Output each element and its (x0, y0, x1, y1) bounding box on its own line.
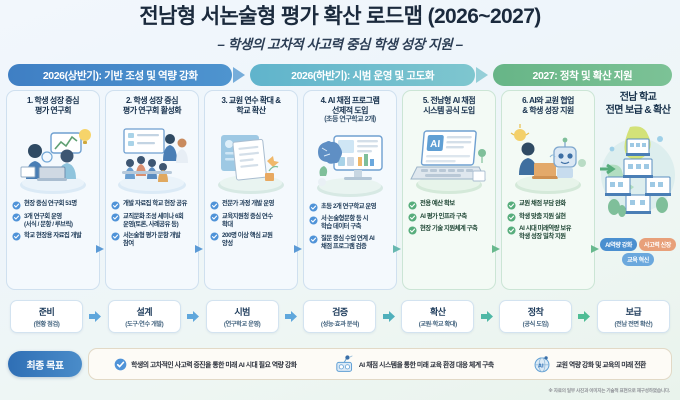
bullet-text: AI 평가 인프라 구축 (420, 213, 467, 221)
roadmap-card-1-title: 1. 학생 성장 중심평가 연구회 (27, 96, 79, 122)
phase-bar-1-label: 2026(상반기): 기반 조성 및 역량 강화 (43, 68, 198, 83)
check-shield-icon (408, 213, 417, 222)
infographic-page: 전남형 서논술형 평가 확산 로드맵 (2026~2027) – 학생의 고차적… (0, 0, 680, 400)
final-goal-text-1: 학생의 고차적인 사고력 증진을 통한 미래 AI 시대 필요 역량 강화 (131, 359, 296, 369)
timeline-arrow-icon (382, 311, 396, 322)
card-arrow-icon (96, 241, 106, 259)
teacher-robot-icon (504, 123, 592, 197)
timeline-step-3-sub: (연구학교 운영) (224, 319, 260, 328)
final-goal-item-3: AI 교원 역량 강화 및 교육의 미래 전환 (532, 355, 646, 373)
bullet-text: 3개 연구회 운영(서식 / 문항 / 루브릭) (24, 213, 73, 229)
header: 전남형 서논술형 평가 확산 로드맵 (2026~2027) – 학생의 고차적… (0, 0, 680, 53)
timeline-arrow-icon (577, 311, 591, 322)
timeline-step-7-sub: (전남 전면 확산) (615, 319, 653, 328)
timeline-step-4-sub: (성능·효과 분석) (321, 319, 359, 328)
bullet-item: 서논술형 평가 문항 개발참여 (109, 232, 195, 248)
check-shield-icon (309, 235, 318, 244)
check-shield-icon (210, 201, 219, 210)
seminar-classroom-icon (108, 123, 196, 197)
svg-text:AI: AI (430, 139, 441, 150)
check-shield-icon (507, 226, 516, 235)
teacher-laptop-icon (9, 123, 97, 197)
bullet-text: 서논술형 평가 문항 개발참여 (123, 232, 180, 248)
final-goal-section: 최종 목표 학생의 고차적인 사고력 증진을 통한 미래 AI 시대 필요 역량… (8, 344, 672, 384)
bullet-item: 전문가 과정 개발 운영 (208, 200, 294, 210)
card-arrow-icon (294, 241, 304, 259)
roadmap-card-3-title: 3. 교원 연수 확대 &학교 확산 (222, 96, 281, 122)
roadmap-card-2-title: 2. 학생 성장 중심평가 연구회 활성화 (123, 96, 181, 122)
roadmap-card-6-title: 6. AI와 교원 협업& 학생 성장 지원 (522, 96, 574, 122)
roadmap-card-6-bullets: 교원 채점 부담 완화 학생 맞춤 지원 실현 AI 시대 미래역량 보유학생 … (505, 200, 591, 244)
phase-arrow-icon (232, 64, 250, 86)
check-shield-icon (507, 213, 516, 222)
outcome-badge-innovation: 교육 혁신 (622, 253, 654, 266)
timeline-step-5[interactable]: 확산 (교원·학교 확대) (401, 300, 474, 333)
timeline-step-4-label: 검증 (332, 305, 348, 318)
bullet-text: 전용 예산 확보 (420, 200, 455, 208)
bullet-text: 서·논술형문항 등 시학습 데이터 구축 (321, 215, 368, 231)
roadmap-card-3[interactable]: 3. 교원 연수 확대 &학교 확산 AI (204, 90, 298, 290)
outcome-badge-ai: AI역량 강화 (600, 238, 637, 251)
bullet-item: 교직문화 조성 세미나 6회운영(토론, 사례공유 등) (109, 213, 195, 229)
timeline-step-6-label: 정착 (528, 305, 544, 318)
bullet-text: 교원 채점 부담 완화 (519, 200, 566, 208)
bullet-item: 현장 중심 연구회 51명 (10, 200, 96, 210)
bullet-text: 질문 중심 수업 연계 AI채점 프로그램 검증 (321, 235, 374, 251)
bullet-item: 전용 예산 확보 (406, 200, 492, 210)
roadmap-card-4-bullets: 초등 2개 연구학교 운영 서·논술형문항 등 시학습 데이터 구축 질문 중심… (307, 203, 393, 254)
bullet-item: 교육지원청 중심 연수확대 (208, 213, 294, 229)
bullet-text: AI 시대 미래역량 보유학생 성장 밀착 지원 (519, 225, 571, 241)
ai-brain-monitor-icon (306, 126, 394, 200)
check-shield-icon (111, 201, 120, 210)
timeline-arrow-icon (284, 311, 298, 322)
bullet-text: 현장 중심 연구회 51명 (24, 200, 77, 208)
final-goal-list: 학생의 고차적인 사고력 증진을 통한 미래 AI 시대 필요 역량 강화 AI… (88, 348, 672, 380)
check-shield-icon (111, 213, 120, 222)
bullet-text: 교육지원청 중심 연수확대 (222, 213, 273, 229)
roadmap-card-3-bullets: 전문가 과정 개발 운영 교육지원청 중심 연수확대 200명 이상 핵심 교원… (208, 200, 294, 251)
check-shield-icon (12, 213, 21, 222)
phase-bar-2-label: 2026(하반기): 시범 운영 및 고도화 (291, 68, 434, 83)
bullet-item: 3개 연구회 운영(서식 / 문항 / 루브릭) (10, 213, 96, 229)
check-shield-icon (111, 232, 120, 241)
timeline-step-group: 준비 (현황 점검) 설계 (도구·연수 개발) 시범 (연구학교 운영) 검증… (10, 298, 670, 334)
bullet-item: 질문 중심 수업 연계 AI채점 프로그램 검증 (307, 235, 393, 251)
timeline-arrow-icon (186, 311, 200, 322)
final-goal-text-2: AI 채점 시스템을 통한 미래 교육 환경 대응 체계 구축 (359, 359, 494, 369)
card-arrow-icon (195, 241, 205, 259)
outcome-badge-group: AI역량 강화 사고력 신장 교육 혁신 (599, 238, 677, 266)
bullet-text: 개발 자료집 학교 현장 공유 (123, 200, 187, 208)
timeline-step-3-label: 시범 (234, 305, 250, 318)
card-arrow-icon (393, 241, 403, 259)
timeline-step-2-label: 설계 (137, 305, 153, 318)
timeline-step-1-label: 준비 (39, 305, 55, 318)
roadmap-card-5-bullets: 전용 예산 확보 AI 평가 인프라 구축 현장 기술 지원체계 구축 (406, 200, 492, 238)
phase-bar-3: 2027: 정착 및 확산 지원 (493, 64, 672, 86)
phase-bar-group: 2026(상반기): 기반 조성 및 역량 강화 2026(하반기): 시범 운… (8, 64, 672, 86)
timeline-step-2-sub: (도구·연수 개발) (125, 319, 163, 328)
roadmap-card-4-title: 4. AI 채점 프로그램선제적 도입 (초등 연구학교 2개) (321, 96, 380, 125)
roadmap-card-2[interactable]: 2. 학생 성장 중심평가 연구회 활성화 (105, 90, 199, 290)
outcome-badge-thinking: 사고력 신장 (639, 238, 676, 251)
bullet-text: 학생 맞춤 지원 실현 (519, 213, 566, 221)
roadmap-card-5[interactable]: 5. 전남형 AI 채점시스템 공식 도입 AI (402, 90, 496, 290)
bullet-item: 학교 현장용 자료집 개발 (10, 232, 96, 242)
bullet-item: 학생 맞춤 지원 실현 (505, 213, 591, 223)
svg-text:AI: AI (538, 364, 544, 370)
phase-bar-3-label: 2027: 정착 및 확산 지원 (533, 68, 633, 83)
ai-globe-icon: AI (532, 355, 552, 373)
final-goal-text-3: 교원 역량 강화 및 교육의 미래 전환 (556, 359, 646, 369)
page-title: 전남형 서논술형 평가 확산 로드맵 (2026~2027) (0, 5, 680, 29)
timeline-arrow-icon (480, 311, 494, 322)
phase-arrow-icon (475, 64, 493, 86)
timeline-step-1-sub: (현황 점검) (34, 319, 60, 328)
check-shield-icon (408, 226, 417, 235)
roadmap-card-1-bullets: 현장 중심 연구회 51명 3개 연구회 운영(서식 / 문항 / 루브릭) 학… (10, 200, 96, 244)
check-shield-icon (12, 232, 21, 241)
school-buildings-map-icon (600, 119, 676, 236)
timeline-step-5-label: 확산 (430, 305, 446, 318)
timeline-step-7[interactable]: 보급 (전남 전면 확산) (597, 300, 670, 333)
bullet-item: AI 평가 인프라 구축 (406, 213, 492, 223)
timeline-arrow-icon (88, 311, 102, 322)
roadmap-card-5-title: 5. 전남형 AI 채점시스템 공식 도입 (423, 96, 475, 122)
check-shield-icon (12, 201, 21, 210)
check-shield-icon (507, 201, 516, 210)
page-subtitle: – 학생의 고차적 사고력 중심 학생 성장 지원 – (0, 33, 680, 53)
roadmap-card-4-title-note: (초등 연구학교 2개) (321, 116, 380, 125)
bullet-text: 현장 기술 지원체계 구축 (420, 225, 477, 233)
check-shield-icon (309, 216, 318, 225)
card-arrow-icon (492, 241, 502, 259)
bullet-item: 현장 기술 지원체계 구축 (406, 225, 492, 235)
timeline-step-2[interactable]: 설계 (도구·연수 개발) (108, 300, 181, 333)
bullet-text: 초등 2개 연구학교 운영 (321, 203, 376, 211)
bullet-text: 200명 이상 핵심 교원양성 (222, 232, 272, 248)
roadmap-card-2-bullets: 개발 자료집 학교 현장 공유 교직문화 조성 세미나 6회운영(토론, 사례공… (109, 200, 195, 251)
roadmap-card-6[interactable]: 6. AI와 교원 협업& 학생 성장 지원 (501, 90, 595, 290)
card-arrow-icon (591, 241, 601, 259)
footnote: ※ 자료의 일부 사진과 이미지는 기술적 표현으로 재구성하였습니다. (548, 388, 670, 394)
phase-bar-1: 2026(상반기): 기반 조성 및 역량 강화 (8, 64, 232, 86)
timeline-step-6-sub: (공식 도입) (523, 319, 549, 328)
roadmap-card-group: 1. 학생 성장 중심평가 연구회 (6, 90, 600, 290)
check-circle-icon (114, 358, 127, 371)
timeline-step-7-label: 보급 (626, 305, 642, 318)
expansion-panel-title: 전남 학교전면 보급 & 확산 (606, 92, 671, 117)
check-shield-icon (408, 201, 417, 210)
bullet-item: 서·논술형문항 등 시학습 데이터 구축 (307, 215, 393, 231)
bullet-text: 교직문화 조성 세미나 6회운영(토론, 사례공유 등) (123, 213, 183, 229)
timeline-step-5-sub: (교원·학교 확대) (419, 319, 457, 328)
ai-document-icon: AI (207, 123, 295, 197)
timeline-step-1[interactable]: 준비 (현황 점검) (10, 300, 83, 333)
bullet-item: 교원 채점 부담 완화 (505, 200, 591, 210)
timeline-step-3[interactable]: 시범 (연구학교 운영) (206, 300, 279, 333)
phase-bar-2: 2026(하반기): 시범 운영 및 고도화 (250, 64, 474, 86)
final-goal-item-2: AI 채점 시스템을 통한 미래 교육 환경 대응 체계 구축 (335, 355, 494, 373)
roadmap-card-1[interactable]: 1. 학생 성장 중심평가 연구회 (6, 90, 100, 290)
bullet-item: 200명 이상 핵심 교원양성 (208, 232, 294, 248)
bullet-text: 학교 현장용 자료집 개발 (24, 232, 81, 240)
ai-laptop-icon: AI (405, 123, 493, 197)
check-shield-icon (210, 232, 219, 241)
timeline-step-4[interactable]: 검증 (성능·효과 분석) (303, 300, 376, 333)
final-goal-pill: 최종 목표 (8, 351, 82, 377)
bullet-item: AI 시대 미래역량 보유학생 성장 밀착 지원 (505, 225, 591, 241)
expansion-panel: 전남 학교전면 보급 & 확산 (600, 90, 676, 290)
check-shield-icon (210, 213, 219, 222)
bullet-item: 개발 자료집 학교 현장 공유 (109, 200, 195, 210)
bullet-item: 초등 2개 연구학교 운영 (307, 203, 393, 213)
bullet-text: 전문가 과정 개발 운영 (222, 200, 274, 208)
final-goal-item-1: 학생의 고차적인 사고력 증진을 통한 미래 AI 시대 필요 역량 강화 (114, 358, 296, 371)
ai-scan-icon (335, 355, 355, 373)
check-shield-icon (309, 203, 318, 212)
timeline-step-6[interactable]: 정착 (공식 도입) (499, 300, 572, 333)
roadmap-card-4[interactable]: 4. AI 채점 프로그램선제적 도입 (초등 연구학교 2개) (303, 90, 397, 290)
roadmap-card-4-title-main: 4. AI 채점 프로그램선제적 도입 (321, 96, 380, 115)
